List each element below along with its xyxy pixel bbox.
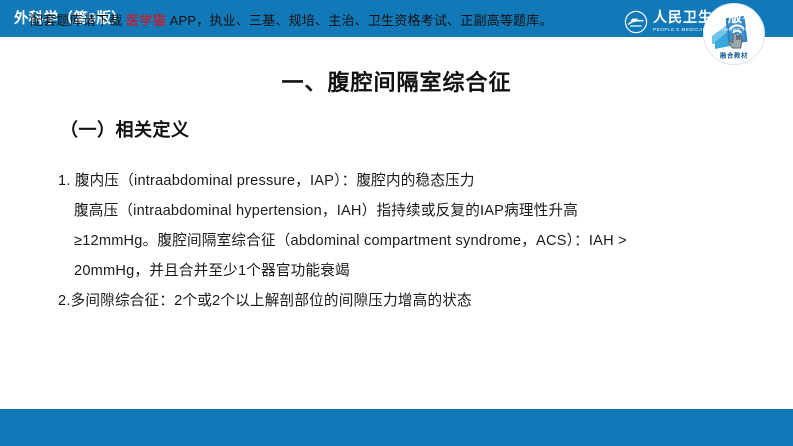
publisher-logo: 人民卫生出版社 PEOPLE'S MEDICAL PUBLISHING HOUS…	[624, 9, 784, 35]
publisher-name-cn: 人民卫生出版社	[653, 12, 762, 26]
footer-text-after: APP，执业、三基、规培、主治、卫生资格考试、正副高等题库。	[166, 13, 553, 28]
section-heading: （一）相关定义	[60, 116, 190, 142]
body-line-4: 20mmHg，并且合并至少1个器官功能衰竭	[58, 256, 758, 286]
body-line-5: 2.多间隙综合征：2个或2个以上解剖部位的间隙压力增高的状态	[58, 286, 758, 316]
body-line-1: 1. 腹内压（intraabdominal pressure，IAP）：腹腔内的…	[58, 166, 758, 196]
badge-label: 融合教材	[720, 51, 748, 60]
app-brand-name: 医学猫	[126, 13, 166, 28]
footer-bar	[0, 409, 793, 446]
publisher-mark-icon	[624, 10, 648, 34]
content-body: 1. 腹内压（intraabdominal pressure，IAP）：腹腔内的…	[58, 166, 758, 316]
page-title: 一、腹腔间隔室综合征	[0, 65, 793, 97]
publisher-wordmark: 人民卫生出版社 PEOPLE'S MEDICAL PUBLISHING HOUS…	[653, 12, 762, 33]
footer-text-before: 配套题库请下载	[30, 13, 126, 28]
publisher-name-en: PEOPLE'S MEDICAL PUBLISHING HOUSE	[653, 28, 762, 33]
body-line-2: 腹高压（intraabdominal hypertension，IAH）指持续或…	[58, 196, 758, 226]
footer-promo-text: 配套题库请下载 医学猫 APP，执业、三基、规培、主治、卫生资格考试、正副高等题…	[30, 10, 553, 29]
body-line-3: ≥12mmHg。腹腔间隔室综合征（abdominal compartment s…	[58, 226, 758, 256]
slide-canvas: 外科学（第9版） 融合教材 一、腹腔间隔室综合征 （一）	[0, 0, 793, 446]
